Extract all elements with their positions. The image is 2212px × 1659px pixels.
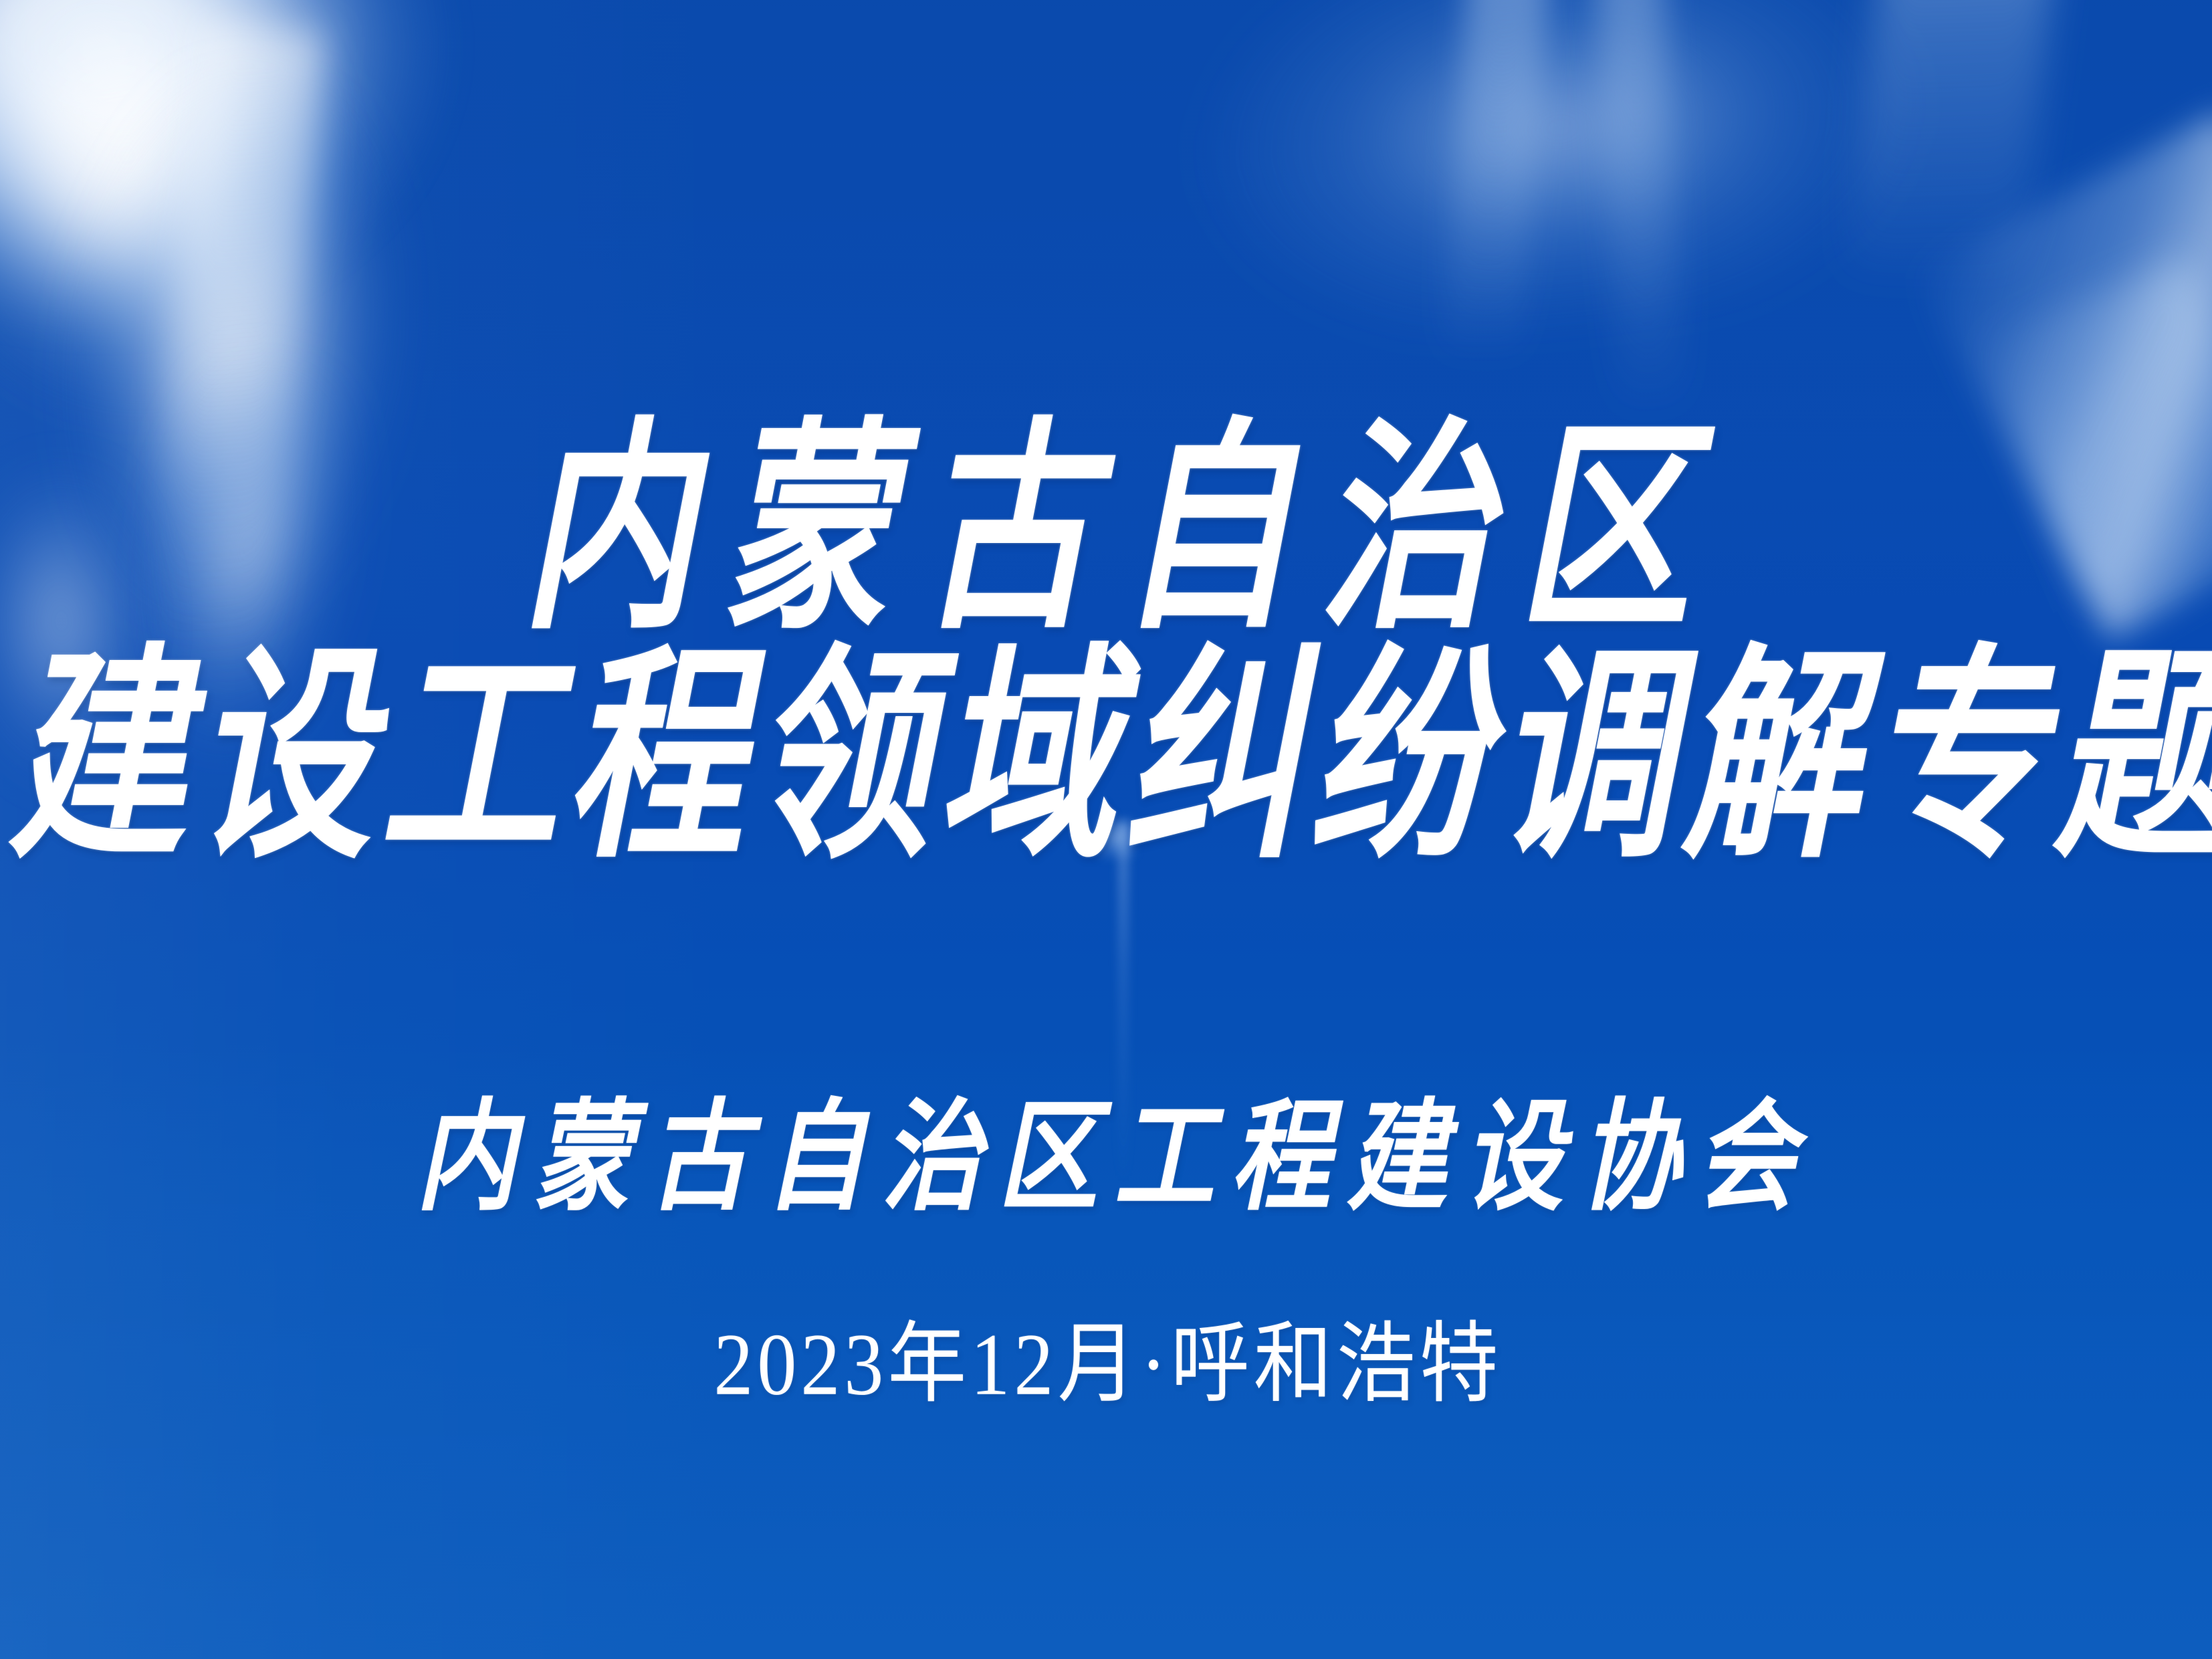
title-slide: 内蒙古自治区 建设工程领域纠纷调解专题培训 内蒙古自治区工程建设协会 2023年… xyxy=(0,0,2212,1659)
date-and-location: 2023年12月·呼和浩特 xyxy=(0,1321,2212,1409)
slide-content: 内蒙古自治区 建设工程领域纠纷调解专题培训 内蒙古自治区工程建设协会 2023年… xyxy=(0,0,2212,1659)
slide-title-line-1: 内蒙古自治区 xyxy=(0,416,2212,640)
slide-title-line-2: 建设工程领域纠纷调解专题培训 xyxy=(0,642,2212,869)
organization-name: 内蒙古自治区工程建设协会 xyxy=(0,1097,2212,1217)
